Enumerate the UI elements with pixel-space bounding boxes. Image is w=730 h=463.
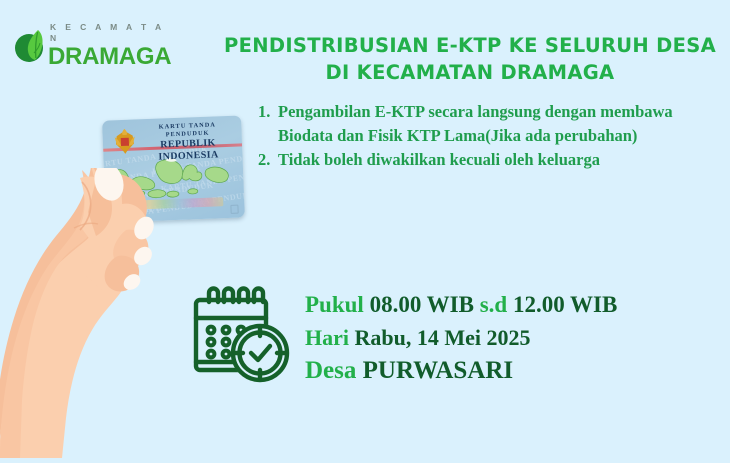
list-item-text: Pengambilan E-KTP secara langsung dengan… [278,100,688,148]
kecamatan-dramaga-logo: K E C A M A T A N DRAMAGA [10,20,170,68]
time-separator: s.d [480,292,508,317]
ktp-header-line-2: REPUBLIK INDONESIA [138,137,239,165]
schedule-details: Pukul 08.00 WIB s.d 12.00 WIB Hari Rabu,… [305,288,705,387]
village-value: PURWASARI [363,357,514,384]
day-label: Hari [305,325,349,350]
logo-kecamatan-text: K E C A M A T A N [48,22,172,44]
poster-canvas: K E C A M A T A N DRAMAGA PENDISTRIBUSIA… [0,0,730,455]
list-item-number: 1. [258,100,278,124]
calendar-clock-icon [188,284,294,388]
ktp-chip-icon [230,205,238,214]
list-item-number: 2. [258,148,278,172]
time-start: 08.00 WIB [370,292,474,317]
village-label: Desa [305,357,356,384]
title-line-2: DI KECAMATAN DRAMAGA [215,59,725,86]
time-label: Pukul [305,292,364,317]
logo-dramaga-text: DRAMAGA [48,44,172,69]
list-item: 2. Tidak boleh diwakilkan kecuali oleh k… [258,148,688,172]
day-value: Rabu, 14 Mei 2025 [355,325,531,350]
title-line-1: PENDISTRIBUSIAN E-KTP KE SELURUH DESA [215,32,725,59]
list-item: 1. Pengambilan E-KTP secara langsung den… [258,100,688,148]
schedule-day-row: Hari Rabu, 14 Mei 2025 [305,321,705,354]
ktp-header: KARTU TANDA PENDUDUK REPUBLIK INDONESIA [137,121,238,165]
leaf-droplet-icon [12,26,52,66]
schedule-time-row: Pukul 08.00 WIB s.d 12.00 WIB [305,288,705,321]
requirements-list: 1. Pengambilan E-KTP secara langsung den… [258,100,688,172]
time-end: 12.00 WIB [513,292,617,317]
schedule-village-row: Desa PURWASARI [305,354,705,387]
list-item-text: Tidak boleh diwakilkan kecuali oleh kelu… [278,148,688,172]
garuda-emblem-icon [111,126,138,157]
logo-wordmark: K E C A M A T A N DRAMAGA [48,22,172,69]
hand-illustration [0,168,206,458]
poster-title: PENDISTRIBUSIAN E-KTP KE SELURUH DESA DI… [215,32,725,86]
